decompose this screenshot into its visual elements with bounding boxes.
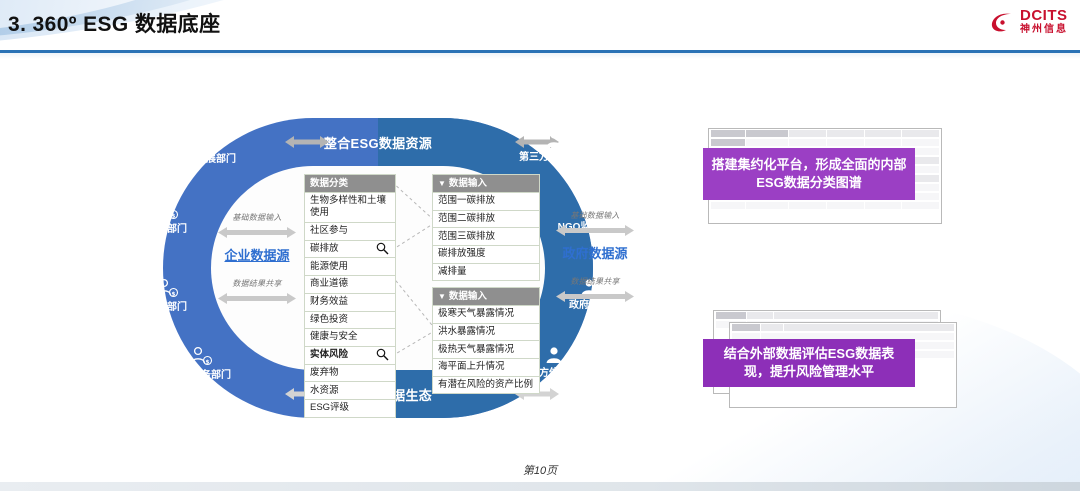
person-badge-icon: $ <box>121 200 213 223</box>
double-arrow-icon <box>203 291 311 309</box>
page-title: 3. 360º ESG 数据底座 <box>8 8 220 38</box>
table-body: 生物多样性和土壤使用 社区参与 碳排放 能源使用 商业道德 财务效益 绿色投资 … <box>304 193 396 418</box>
table-header[interactable]: ▼数据输入 <box>432 287 540 306</box>
table-row[interactable]: 范围二碳排放 <box>432 211 540 229</box>
table-header-label: 数据输入 <box>449 291 487 302</box>
table-data-category: 数据分类 生物多样性和土壤使用 社区参与 碳排放 能源使用 商业道德 财务效益 … <box>304 174 396 418</box>
node-label: 风险部门 <box>147 224 187 235</box>
double-arrow-icon <box>541 223 649 241</box>
cell-label: 减排量 <box>438 266 467 277</box>
table-row[interactable]: 生物多样性和土壤使用 <box>304 193 396 223</box>
double-arrow-icon <box>541 289 649 307</box>
table-row[interactable]: 水资源 <box>304 382 396 400</box>
node-sustainability-dept[interactable]: $ 可持续发展部门 <box>155 130 247 165</box>
callout-box-1: 搭建集约化平台，形成全面的内部ESG数据分类图谱 <box>703 148 915 200</box>
table-row[interactable]: 海平面上升情况 <box>432 359 540 377</box>
cell-label: 实体风险 <box>310 349 348 360</box>
node-label: 第三方评级机构 <box>519 152 589 163</box>
logo-text-cn: 神州信息 <box>1020 25 1068 35</box>
table-row[interactable]: 废弃物 <box>304 365 396 383</box>
slide-root: 3. 360º ESG 数据底座 DCITS 神州信息 整合ESG数据资源 形成… <box>0 0 1080 491</box>
svg-text:$: $ <box>172 213 176 219</box>
cell-label: 水资源 <box>310 385 339 396</box>
dcits-logo-icon <box>989 9 1015 35</box>
node-risk-dept[interactable]: $ 风险部门 <box>121 200 213 235</box>
person-icon <box>508 130 600 151</box>
cell-label: 废弃物 <box>310 367 339 378</box>
slide-header: 3. 360º ESG 数据底座 DCITS 神州信息 <box>0 0 1080 50</box>
table-row[interactable]: 有潜在风险的资产比例 <box>432 377 540 395</box>
table-row[interactable]: 能源使用 <box>304 258 396 276</box>
cell-label: 范围三碳排放 <box>438 231 495 242</box>
enterprise-caption-bottom: 数据结果共享 <box>203 278 311 289</box>
cell-label: 能源使用 <box>310 261 348 272</box>
table-row[interactable]: 范围三碳排放 <box>432 228 540 246</box>
table-row[interactable]: 社区参与 <box>304 223 396 241</box>
svg-text:$: $ <box>172 291 176 297</box>
cell-label: 商业道德 <box>310 278 348 289</box>
node-label: 可持续发展部门 <box>166 154 236 165</box>
table-row[interactable]: ESG评级 <box>304 400 396 418</box>
chevron-down-icon: ▼ <box>438 292 446 301</box>
brand-logo: DCITS 神州信息 <box>989 8 1068 35</box>
table-row[interactable]: 绿色投资 <box>304 312 396 330</box>
page-number: 第10页 <box>0 462 1080 478</box>
svg-text:$: $ <box>206 359 210 365</box>
table-row[interactable]: 范围一碳排放 <box>432 193 540 211</box>
cell-label: ESG评级 <box>310 402 349 413</box>
table-row[interactable]: 碳排放 <box>304 241 396 259</box>
node-investment-dept[interactable]: $ 投资部门 <box>121 278 213 313</box>
table-header-label: 数据输入 <box>449 178 487 189</box>
person-badge-icon: $ <box>155 346 247 369</box>
enterprise-source-block: 基础数据输入 企业数据源 数据结果共享 <box>203 212 311 311</box>
government-source-block: 基础数据输入 政府数据源 数据结果共享 <box>541 210 649 309</box>
node-public-affairs-dept[interactable]: $ 公共事务部门 <box>155 346 247 381</box>
table-row[interactable]: 极寒天气暴露情况 <box>432 306 540 324</box>
table-data-input-physical-risk: ▼数据输入 极寒天气暴露情况 洪水暴露情况 极热天气暴露情况 海平面上升情况 有… <box>432 287 540 394</box>
cell-label: 海平面上升情况 <box>438 361 505 372</box>
node-label: 投资部门 <box>147 302 187 313</box>
band-top-label: 整合ESG数据资源 <box>324 133 432 152</box>
chevron-down-icon: ▼ <box>438 179 446 188</box>
cell-label: 洪水暴露情况 <box>438 326 495 337</box>
government-source-name: 政府数据源 <box>541 243 649 262</box>
cell-label: 极寒天气暴露情况 <box>438 308 514 319</box>
table-row[interactable]: 碳排放强度 <box>432 246 540 264</box>
background-bottom-bar <box>0 482 1080 491</box>
enterprise-caption-top: 基础数据输入 <box>203 212 311 223</box>
cell-label: 财务效益 <box>310 296 348 307</box>
cell-label: 范围一碳排放 <box>438 195 495 206</box>
table-row[interactable]: 财务效益 <box>304 294 396 312</box>
cell-label: 有潜在风险的资产比例 <box>438 379 533 390</box>
logo-text-en: DCITS <box>1020 8 1068 23</box>
cell-label: 范围二碳排放 <box>438 213 495 224</box>
double-arrow-icon <box>285 136 329 148</box>
table-row[interactable]: 洪水暴露情况 <box>432 324 540 342</box>
person-badge-icon: $ <box>155 130 247 153</box>
node-third-party-rating[interactable]: 第三方评级机构 <box>508 130 600 163</box>
cell-label: 社区参与 <box>310 225 348 236</box>
government-caption-top: 基础数据输入 <box>541 210 649 221</box>
cell-label: 极热天气暴露情况 <box>438 344 514 355</box>
table-row[interactable]: 商业道德 <box>304 276 396 294</box>
table-header: 数据分类 <box>304 174 396 193</box>
node-label: 公共事务部门 <box>171 370 231 381</box>
enterprise-source-name: 企业数据源 <box>203 245 311 264</box>
cell-label: 健康与安全 <box>310 331 358 342</box>
magnifier-icon[interactable] <box>376 348 389 365</box>
magnifier-icon[interactable] <box>376 242 389 259</box>
person-badge-icon: $ <box>121 278 213 301</box>
svg-text:$: $ <box>206 143 210 149</box>
callout-box-2: 结合外部数据评估ESG数据表现，提升风险管理水平 <box>703 339 915 387</box>
table-row[interactable]: 健康与安全 <box>304 329 396 347</box>
table-row[interactable]: 实体风险 <box>304 347 396 365</box>
title-divider-shadow <box>0 53 1080 59</box>
cell-label: 绿色投资 <box>310 314 348 325</box>
double-arrow-icon <box>203 225 311 243</box>
table-row[interactable]: 极热天气暴露情况 <box>432 341 540 359</box>
government-caption-bottom: 数据结果共享 <box>541 276 649 287</box>
cell-label: 碳排放强度 <box>438 248 486 259</box>
cell-label: 碳排放 <box>310 243 339 254</box>
cell-label: 生物多样性和土壤使用 <box>310 195 386 218</box>
table-data-input-carbon: ▼数据输入 范围一碳排放 范围二碳排放 范围三碳排放 碳排放强度 减排量 <box>432 174 540 281</box>
table-row[interactable]: 减排量 <box>432 264 540 282</box>
table-header[interactable]: ▼数据输入 <box>432 174 540 193</box>
